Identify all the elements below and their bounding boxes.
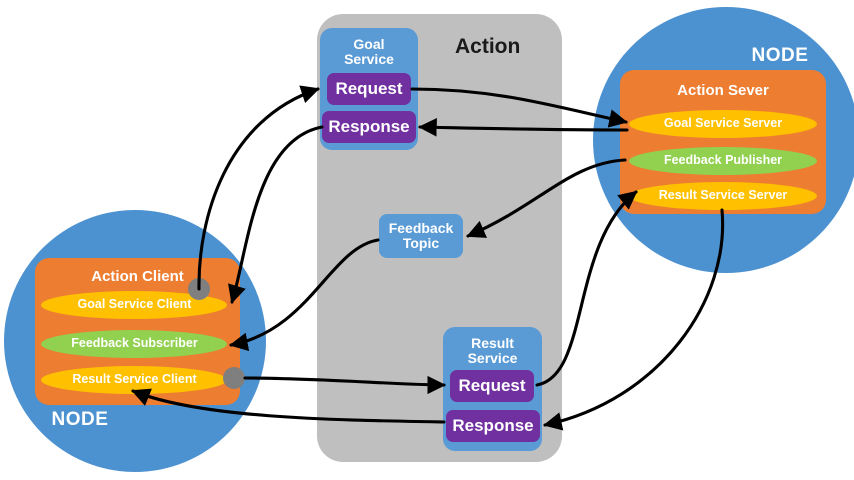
result-service-title: Result Service <box>443 331 542 371</box>
server-node-label: NODE <box>735 45 825 67</box>
pill-label-result-service-server: Result Service Server <box>629 185 817 207</box>
pill-label-feedback-publisher: Feedback Publisher <box>629 150 817 172</box>
goal-request-label: Request <box>327 73 411 105</box>
diagram-canvas: Action NODE Action Sever Goal Service Se… <box>0 0 854 480</box>
pill-label-goal-service-server: Goal Service Server <box>629 113 817 135</box>
action-server-title: Action Sever <box>620 80 826 102</box>
pill-label-feedback-subscriber: Feedback Subscriber <box>41 333 228 355</box>
client-node-label: NODE <box>45 409 115 431</box>
result-response-label: Response <box>446 410 540 442</box>
action-client-title: Action Client <box>35 266 240 288</box>
goal-service-title: Goal Service <box>320 32 418 72</box>
feedback-topic-label: Feedback Topic <box>379 214 463 258</box>
result-request-label: Request <box>450 370 534 402</box>
action-group-title: Action <box>455 35 520 59</box>
pill-label-goal-service-client: Goal Service Client <box>41 294 228 316</box>
pill-label-result-service-client: Result Service Client <box>41 369 228 391</box>
goal-response-label: Response <box>322 111 416 143</box>
